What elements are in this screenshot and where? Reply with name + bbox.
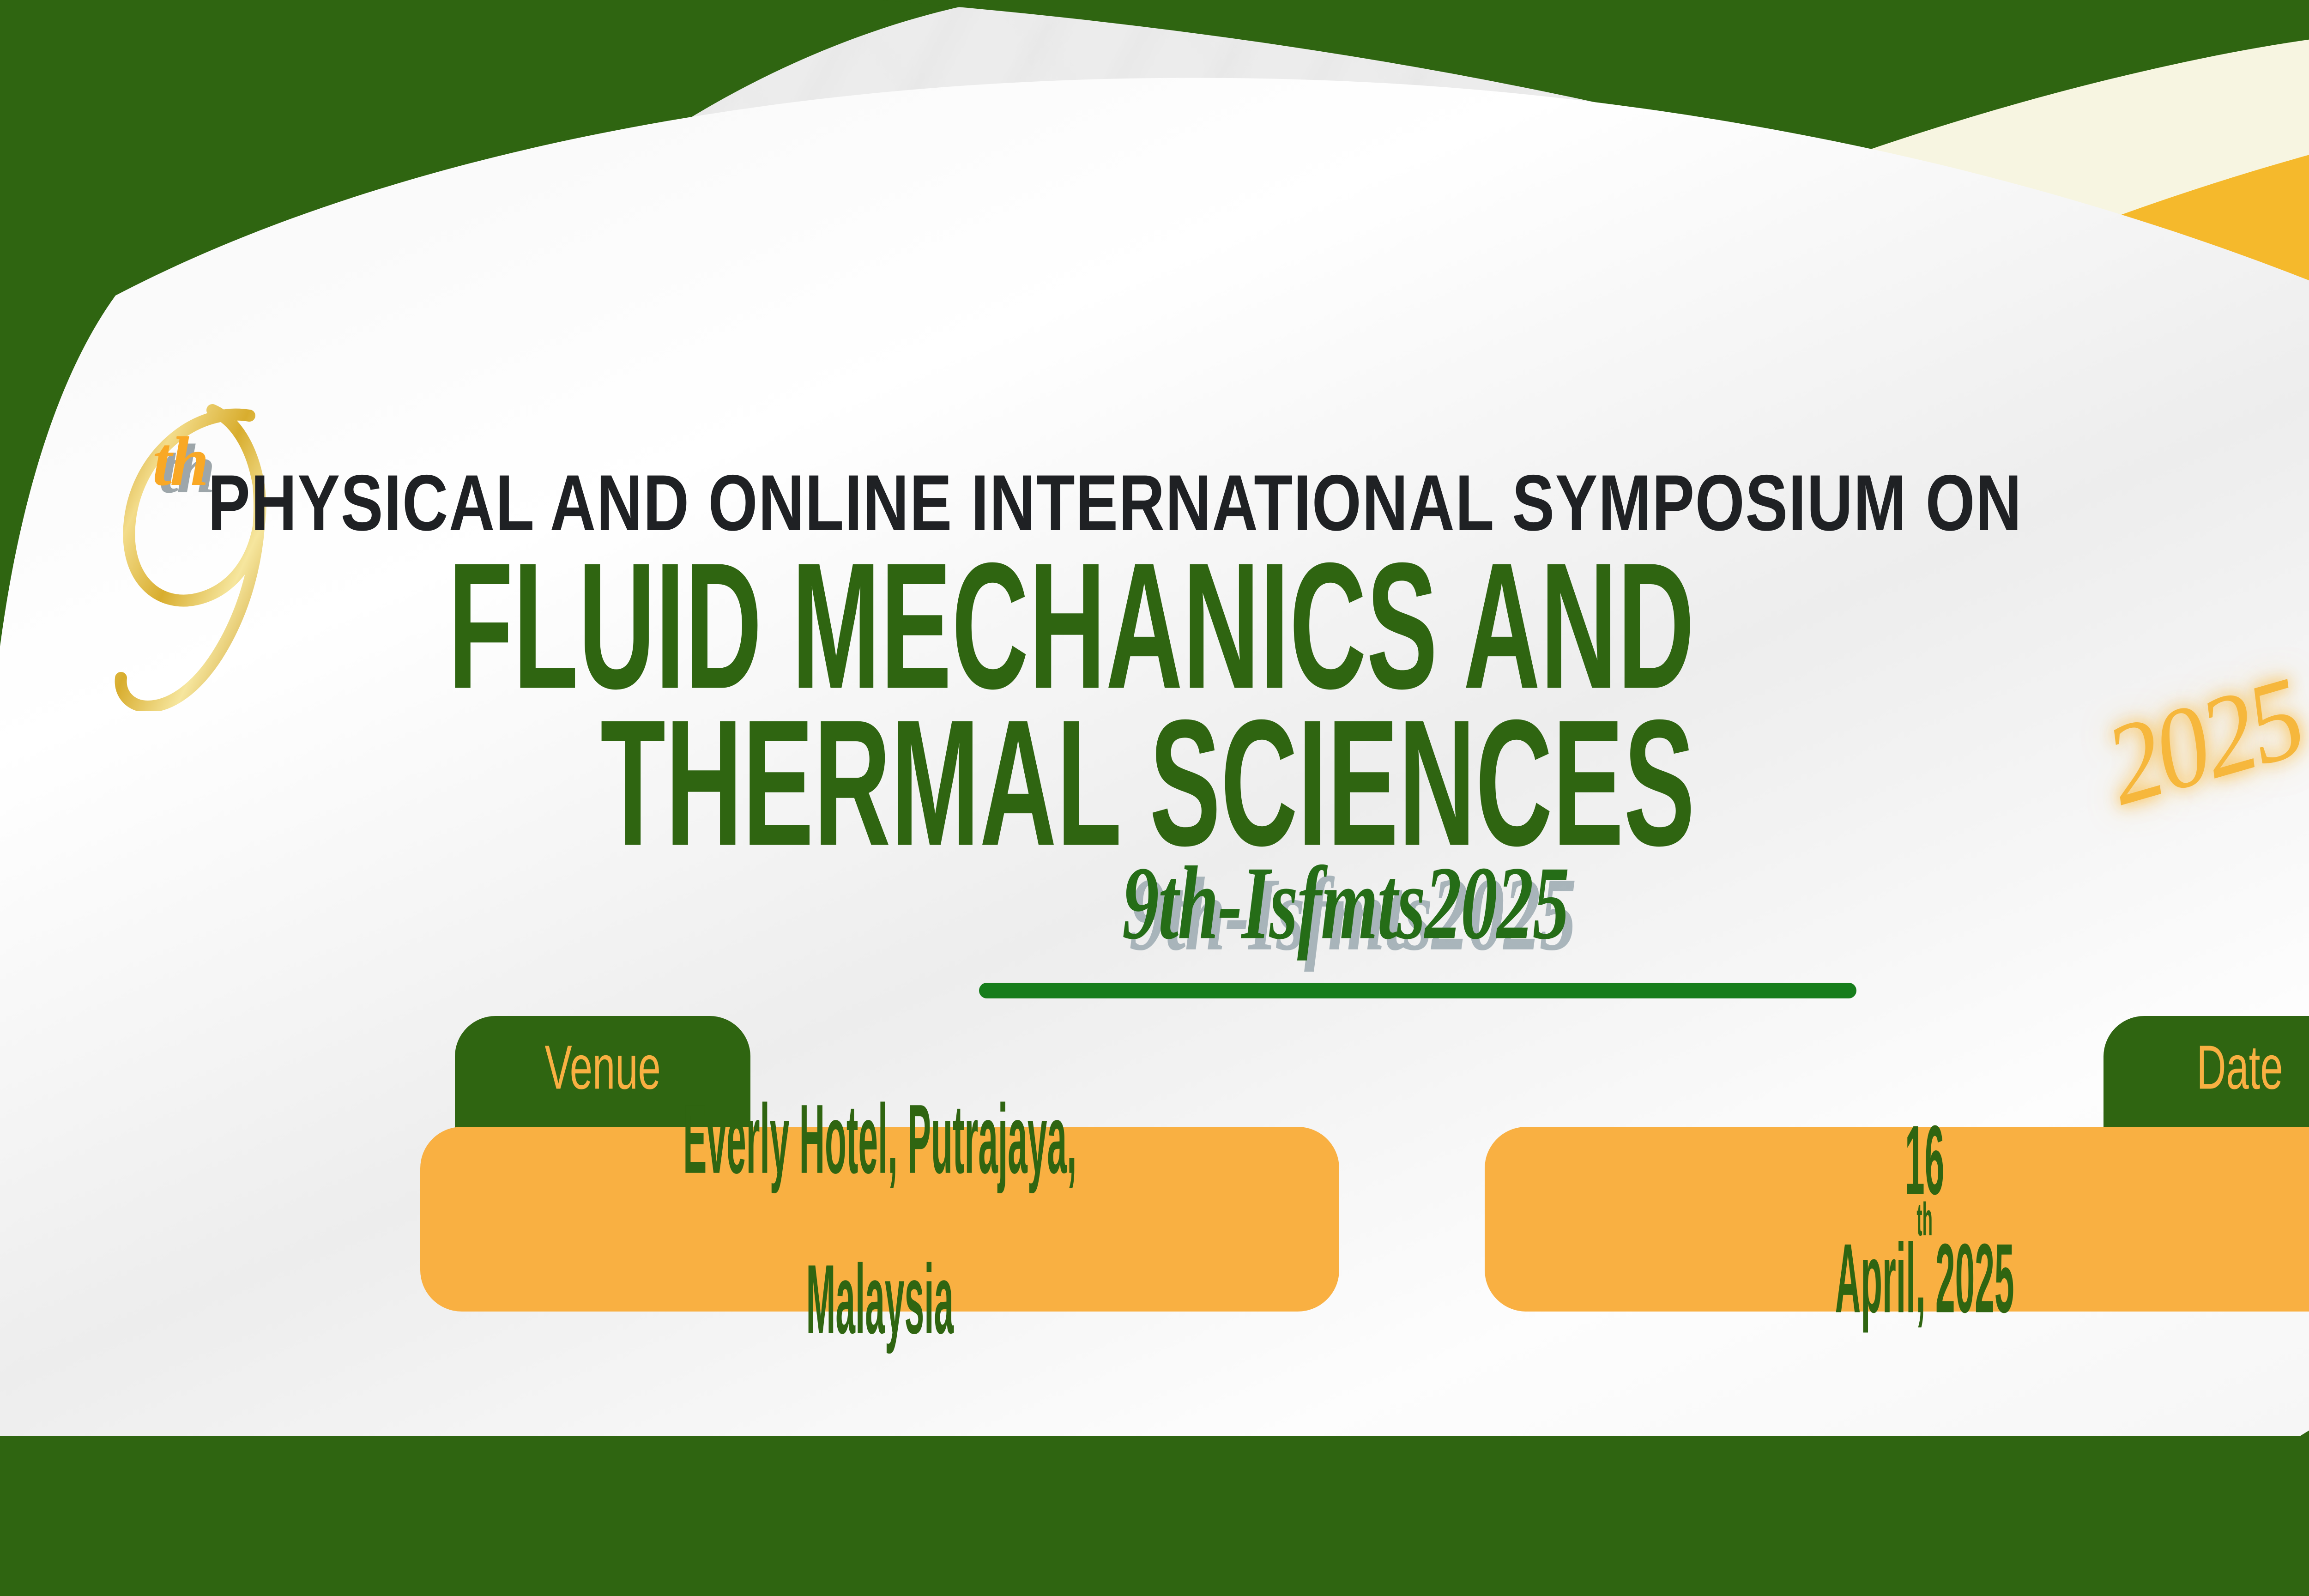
venue-value-line1: Everly Hotel, Putrajaya, <box>683 1087 1076 1191</box>
ordinal-suffix: th <box>152 421 207 502</box>
venue-pill: Everly Hotel, Putrajaya, Malaysia <box>420 1127 1339 1312</box>
date-tab-label: Date <box>2196 1016 2283 1103</box>
venue-tab-label: Venue <box>544 1016 660 1103</box>
venue-value: Everly Hotel, Putrajaya, Malaysia <box>628 1099 1132 1340</box>
conference-banner: th PHYSICAL AND ONLINE INTERNATIONAL SYM… <box>0 0 2309 1596</box>
ordinal-nine-script <box>97 388 337 711</box>
footer-bar: rescons@semarakilmu.com.my <box>0 1436 2309 1596</box>
event-acronym: 9th-Isfmts2025 <box>1122 843 1569 964</box>
date-pill: 16thApril, 2025 <box>1485 1127 2309 1312</box>
date-rest: April, 2025 <box>1835 1226 2014 1330</box>
year-script-2025: 2025 <box>2092 651 2309 832</box>
acronym-underline <box>979 983 1856 998</box>
banner-content: th PHYSICAL AND ONLINE INTERNATIONAL SYM… <box>0 0 2309 1596</box>
venue-value-line2: Malaysia <box>683 1247 1076 1352</box>
date-value: 16thApril, 2025 <box>1810 1120 2039 1318</box>
